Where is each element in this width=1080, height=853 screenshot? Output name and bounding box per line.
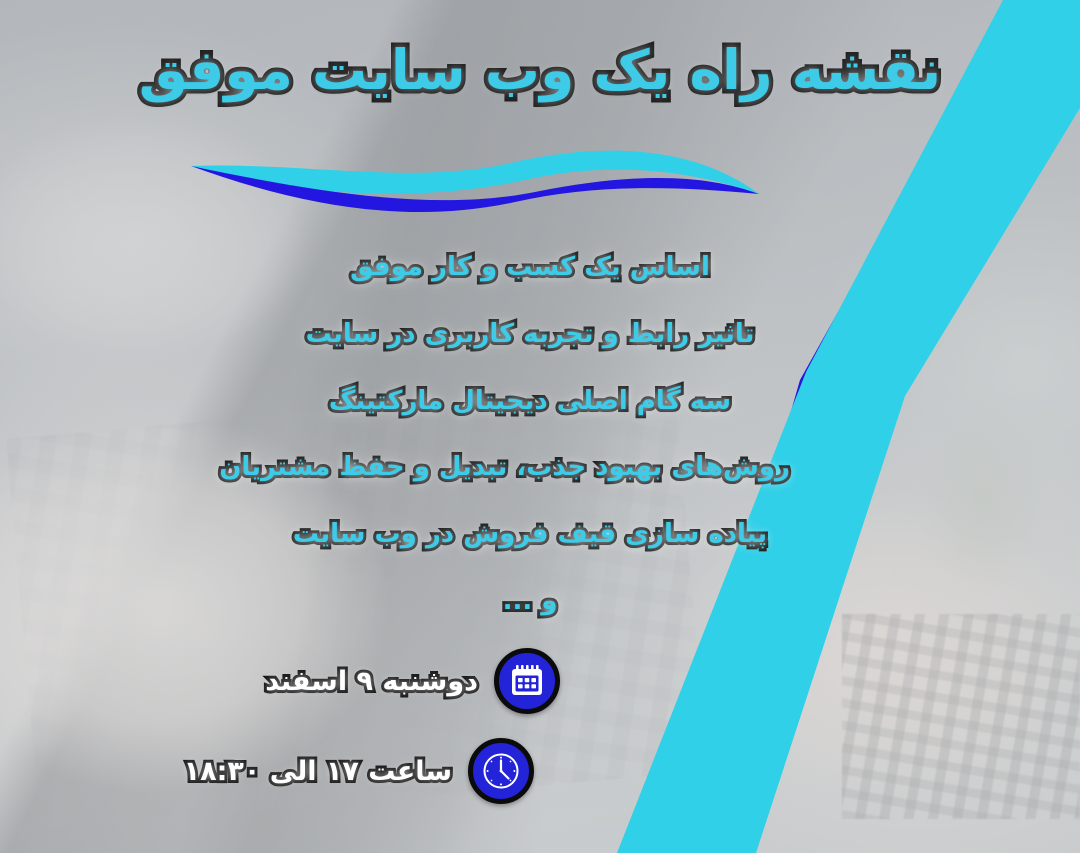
event-date-label: دوشنبه ۹ اسفند [265,666,478,697]
topic-item: اساس یک کسب و کار موفق [270,250,790,285]
topics-list: اساس یک کسب و کار موفق تاثیر رابط و تجرب… [270,250,790,619]
calendar-icon [494,648,560,714]
poster-title: نقشه راه یک وب سایت موفق [139,38,941,103]
event-time-row: ساعت ۱۷ الی ۱۸:۳۰ [184,738,534,804]
event-date-row: دوشنبه ۹ اسفند [265,648,560,714]
clock-icon [468,738,534,804]
event-poster: نقشه راه یک وب سایت موفق اساس یک کسب و ک… [0,0,1080,853]
title-container: نقشه راه یک وب سایت موفق [0,38,1080,103]
topic-item: و ... [270,584,790,619]
event-time-label: ساعت ۱۷ الی ۱۸:۳۰ [184,756,452,787]
swoosh-decoration [185,140,765,220]
topic-item: سه گام اصلی دیجیتال مارکتینگ [270,384,790,419]
topic-item: پیاده سازی قیف فروش در وب سایت [270,517,790,552]
topic-item: روش‌های بهبود جذب، تبدیل و حفظ مشتریان [270,450,790,485]
topic-item: تاثیر رابط و تجربه کاربری در سایت [270,317,790,352]
